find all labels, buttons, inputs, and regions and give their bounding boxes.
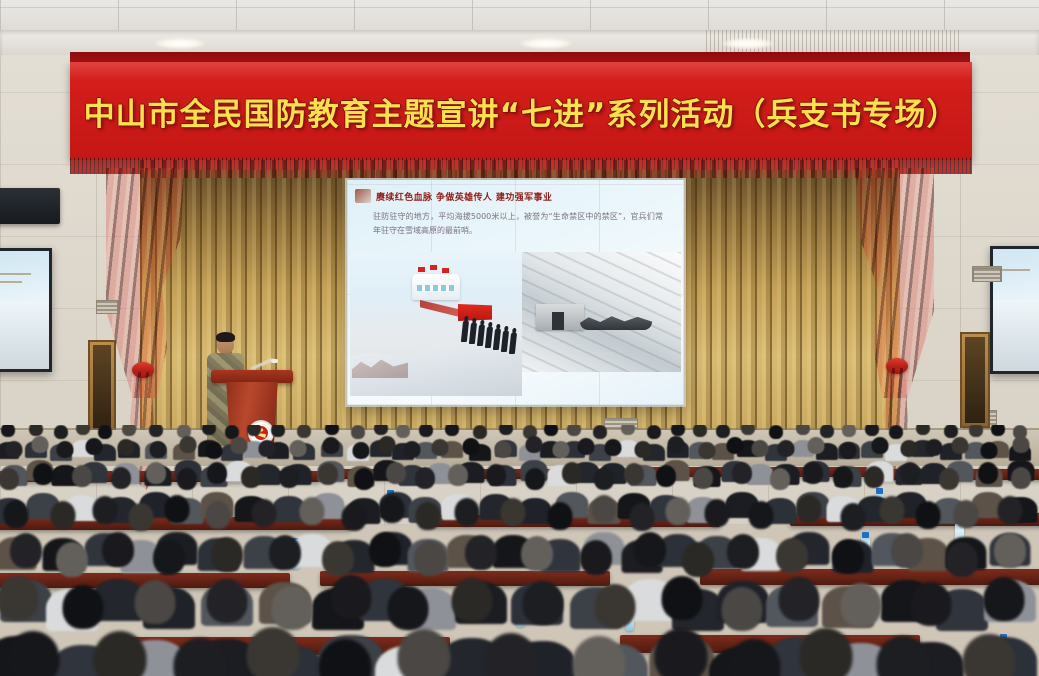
attendee-head (452, 578, 493, 622)
attendee-head (403, 441, 420, 458)
attendee-head (31, 436, 48, 453)
attendee-head (247, 425, 261, 436)
attendee-head (378, 436, 395, 453)
microphone-head (271, 359, 278, 363)
attendee-head (624, 463, 644, 485)
attendee-head (351, 425, 365, 439)
snow-outpost-photo (350, 252, 522, 396)
attendee-head (0, 576, 39, 620)
attendee (946, 634, 1032, 676)
attendee-head (963, 634, 1016, 676)
slide-header: 赓续红色血脉 争做英雄传人 建功强军事业 (347, 186, 684, 206)
attendee-head (85, 438, 102, 455)
attendee-head (431, 439, 448, 456)
attendee-head (56, 441, 73, 458)
attendee-head (671, 425, 685, 436)
door-panel (965, 337, 985, 423)
attendee-head (523, 581, 564, 625)
attendee-head (728, 639, 781, 676)
attendee-head (796, 425, 810, 435)
attendee (77, 631, 163, 676)
attendee-head (379, 495, 404, 523)
attendee-head (842, 425, 856, 437)
attendee-head (693, 425, 707, 437)
attendee-head (594, 468, 614, 490)
attendee-head (877, 636, 930, 676)
attendee-head (354, 468, 374, 490)
stone-hut (536, 304, 584, 330)
wall-vent (96, 300, 118, 314)
attendee-head (153, 540, 185, 575)
attendee-head (322, 541, 354, 576)
attendee-head (567, 425, 581, 436)
attendee-head (92, 496, 117, 524)
attendee-head (72, 465, 92, 487)
slide-body-text: 驻防驻守的地方，平均海拔5000米以上，被誉为“生命禁区中的禁区”，官兵们常年驻… (373, 210, 663, 238)
attendee-head (722, 587, 763, 631)
attendee-head (211, 537, 243, 572)
audience-seating (0, 425, 1039, 676)
attendee-head (1011, 467, 1031, 489)
attendee-head (29, 425, 43, 436)
attendee-head (241, 466, 261, 488)
attendee-head (63, 585, 104, 629)
attendee-head (803, 462, 823, 484)
outpost-flag-icon (418, 267, 425, 272)
presenter-hair (216, 332, 235, 342)
attendee-head (146, 462, 166, 484)
attendee-head (667, 436, 684, 453)
attendee-head (202, 425, 216, 435)
attendee (860, 636, 946, 676)
slide-photo-row (350, 252, 681, 396)
attendee-head (647, 425, 661, 439)
attendee-head (997, 496, 1022, 524)
attendee-head (269, 535, 301, 570)
attendee-head (832, 539, 864, 574)
projection-screen: 赓续红色血脉 争做英雄传人 建功强军事业 驻防驻守的地方，平均海拔5000米以上… (347, 180, 684, 405)
attendee-head (462, 438, 479, 455)
attendee-head (800, 628, 853, 676)
attendee-head (322, 437, 339, 454)
left-wall-display (0, 248, 52, 372)
attendee-head (864, 466, 884, 488)
attendee-head (732, 462, 752, 484)
attendee-head (174, 638, 227, 676)
attendee-head (486, 464, 506, 486)
attendee-head (629, 503, 654, 531)
attendee-head (388, 586, 429, 630)
attendee-head (984, 577, 1025, 621)
attendee-head (841, 583, 882, 627)
attendee-head (796, 495, 821, 523)
left-display-text-line (0, 281, 22, 283)
attendee-head (969, 425, 983, 437)
attendee-head (415, 502, 440, 530)
attendee-head (331, 575, 372, 619)
attendee-head (521, 536, 553, 571)
mountain-outpost-building (412, 274, 460, 300)
event-banner: 中山市全民国防教育主题宣讲“七进”系列活动（兵支书专场） (70, 62, 972, 160)
attendee-head (770, 468, 790, 490)
attendee-head (398, 629, 451, 676)
attendee-head (656, 465, 676, 487)
attendee-head (682, 542, 714, 577)
attendee-head (374, 425, 388, 435)
attendee-head (272, 586, 313, 630)
attendee-head (318, 463, 338, 485)
attendee-head (748, 501, 773, 529)
slide-badge-icon (355, 189, 371, 203)
attendee-head (833, 466, 853, 488)
attendee (783, 628, 869, 676)
attendee-head (980, 442, 997, 459)
attendee-head (251, 499, 276, 527)
attendee-head (247, 627, 300, 676)
attendee-head (595, 584, 636, 628)
attendee-head (1012, 436, 1029, 453)
slide-header-title: 赓续红色血脉 争做英雄传人 建功强军事业 (376, 190, 552, 203)
attendee-head (621, 425, 635, 435)
attendee-head (102, 532, 134, 567)
stone-hut-photo (522, 252, 681, 372)
attendee-head (751, 440, 768, 457)
banner-title-text: 中山市全民国防教育主题宣讲“七进”系列活动（兵支书专场） (84, 89, 959, 134)
hut-doorway (552, 312, 564, 330)
attendee-head (655, 628, 708, 676)
red-top-valance (140, 160, 900, 178)
attendee-head (448, 464, 468, 486)
attendee-head (547, 502, 572, 530)
attendee-head (445, 425, 459, 436)
attendee-head (604, 439, 621, 456)
attendee-head (900, 440, 917, 457)
attendee-head (946, 542, 978, 577)
attendee-head (230, 437, 247, 454)
attendee-head (111, 467, 131, 489)
attendee-head (544, 425, 558, 436)
door-panel (93, 345, 111, 429)
attendee-head (0, 468, 19, 490)
attendee-head (135, 580, 176, 624)
attendee-head (164, 495, 189, 523)
attendee-head (840, 503, 865, 531)
attendee (0, 631, 76, 676)
attendee-head (704, 499, 729, 527)
attendee-head (10, 533, 42, 568)
attendee-head (891, 533, 923, 568)
attendee-head (279, 466, 299, 488)
attendee-head (591, 495, 616, 523)
attendee-head (465, 535, 497, 570)
attendee-head (500, 498, 525, 526)
attendee-head (807, 437, 824, 454)
attendee-head (865, 425, 879, 436)
attendee-head (177, 468, 197, 490)
attendee-head (994, 533, 1026, 568)
attendee-head (978, 462, 998, 484)
attendee-head (494, 441, 511, 458)
left-display-image (0, 301, 49, 369)
attendee-head (900, 462, 920, 484)
attendee-head (205, 442, 222, 459)
attendee-head (33, 463, 53, 485)
attendee-head (839, 442, 856, 459)
auditorium-photo: 中山市全民国防教育主题宣讲“七进”系列活动（兵支书专场） 赓续红色血脉 争做英雄… (0, 0, 1039, 676)
attendee-head (128, 503, 153, 531)
attendee-head (117, 439, 134, 456)
attendee-head (915, 501, 940, 529)
attendee-head (386, 462, 406, 484)
attendee-head (1, 425, 15, 437)
downlight (722, 38, 774, 49)
attendee-head (562, 462, 582, 484)
attendee-head (98, 425, 112, 439)
attendee-head (939, 468, 959, 490)
attendee-head (769, 425, 783, 439)
attendee-head (879, 496, 904, 524)
attendee (556, 636, 642, 676)
attendee-head (207, 462, 227, 484)
attendee-head (662, 576, 703, 620)
attendee (381, 629, 467, 676)
attendee-head (414, 541, 446, 576)
attendee-head (776, 538, 808, 573)
wall-vent (973, 268, 1001, 282)
attendee-head (525, 436, 542, 453)
attendee-head (573, 636, 626, 676)
attendee-head (499, 425, 513, 435)
attendee-head (122, 425, 136, 436)
attendee-head (56, 542, 88, 577)
attendee-head (5, 441, 22, 458)
attendee-head (726, 437, 743, 454)
attendee-head (454, 498, 479, 526)
attendee-head (951, 437, 968, 454)
attendee-head (419, 425, 433, 437)
side-door[interactable] (88, 340, 116, 434)
attendee-head (207, 579, 248, 623)
attendee-head (369, 532, 401, 567)
attendee (302, 639, 388, 676)
attendee-head (634, 441, 651, 458)
right-display-text-line (997, 269, 1029, 271)
microphone-arm (251, 358, 274, 370)
attendee-head (94, 631, 147, 676)
attendee-head (485, 633, 538, 676)
attendee-head (54, 425, 68, 439)
side-door[interactable] (960, 332, 990, 428)
attendee-head (299, 497, 324, 525)
attendee-head (341, 503, 366, 531)
attendee-head (916, 425, 930, 435)
attendee-head (577, 438, 594, 455)
attendee-head (665, 497, 690, 525)
attendee-head (698, 442, 715, 459)
attendee-head (50, 501, 75, 529)
attendee-head (271, 425, 285, 437)
attendee-head (3, 500, 28, 528)
attendee-head (925, 439, 942, 456)
outpost-windows (417, 285, 455, 291)
attendee-head (911, 582, 952, 626)
attendee-head (552, 441, 569, 458)
attendee-head (953, 500, 978, 528)
attendee-head (289, 440, 306, 457)
attendee-head (76, 425, 90, 435)
podium-top (211, 370, 293, 383)
attendee-head (580, 540, 612, 575)
attendee-head (149, 425, 163, 437)
attendee-head (593, 425, 607, 439)
outpost-flag-icon (430, 265, 437, 270)
attendee-head (352, 442, 369, 459)
attendee-head (473, 425, 487, 439)
attendee-head (779, 577, 820, 621)
attendee-head (149, 441, 166, 458)
attendee-head (634, 532, 666, 567)
attendee-head (7, 631, 60, 676)
downlight (154, 38, 206, 49)
attendee-head (727, 534, 759, 569)
attendee-head (693, 467, 713, 489)
attendee-head (415, 467, 435, 489)
attendee-head (179, 436, 196, 453)
attendee-head (297, 425, 311, 438)
attendee-head (741, 425, 755, 435)
attendee (468, 633, 554, 676)
left-ceiling-speaker (0, 188, 60, 224)
attendee-head (525, 468, 545, 490)
attendee-head (871, 437, 888, 454)
attendee-head (319, 639, 372, 676)
attendee-head (777, 440, 794, 457)
ceiling (0, 0, 1039, 60)
attendee-head (991, 425, 1005, 436)
attendee-head (325, 425, 339, 435)
left-display-text-line (0, 273, 31, 275)
downlight (520, 38, 572, 49)
outpost-flag-icon (442, 268, 449, 273)
attendee-head (205, 501, 230, 529)
right-display-image (993, 300, 1039, 371)
attendee-head (258, 440, 275, 457)
